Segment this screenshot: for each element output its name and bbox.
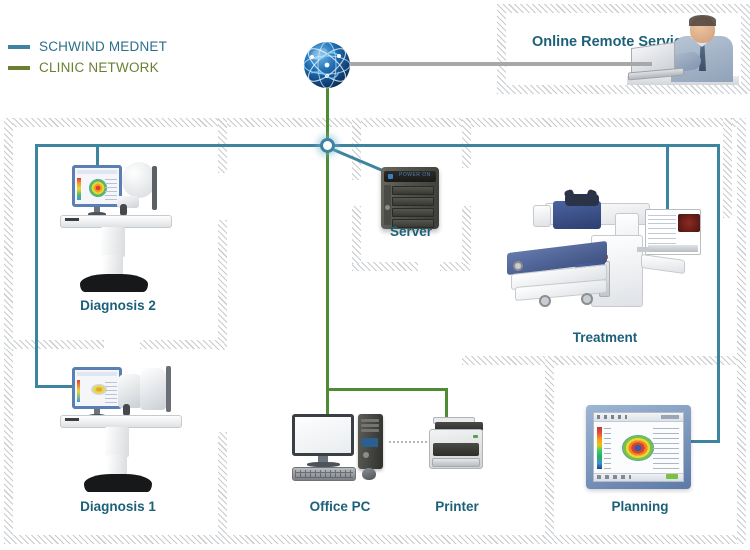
diagnosis2-label: Diagnosis 2 — [68, 298, 168, 313]
legend-item-mednet: SCHWIND MEDNET — [8, 36, 167, 57]
office-pc-tower-display — [362, 438, 378, 447]
diagnosis2-measuring-head — [122, 162, 156, 198]
wall-treatment-bottom — [462, 356, 737, 365]
diagnosis2-base — [80, 274, 148, 292]
office-pc-drive-slot — [361, 429, 379, 432]
diagnosis2-table-controls[interactable] — [65, 218, 79, 221]
diagnosis1-monitor — [72, 367, 122, 409]
wall-divider-a-lower — [218, 432, 227, 544]
link-clinic-to-printer-v — [445, 388, 448, 418]
planning-topography-map-icon — [622, 435, 654, 461]
diagnosis1-table-controls[interactable] — [65, 418, 79, 421]
diagnosis1-optics-left — [118, 374, 142, 408]
treatment-monitor — [645, 209, 701, 255]
wall-divider-d — [545, 356, 554, 544]
diagnosis1-support-arm — [166, 366, 171, 412]
office-pc-mouse[interactable] — [362, 468, 376, 480]
online-remote-services-panel: Online Remote Services — [497, 4, 750, 94]
office-pc-drive-slot — [361, 424, 379, 427]
treatment-eye-image — [678, 214, 700, 232]
planning-color-scale-icon — [597, 427, 602, 469]
server-drive-bay — [392, 186, 434, 195]
link-mednet-right-riser — [717, 144, 720, 442]
wall-bottom — [4, 535, 746, 544]
wall-right — [737, 118, 746, 544]
wall-divider-a-mid — [218, 220, 227, 350]
wall-divider-e — [723, 118, 732, 218]
server-device: POWER ON — [381, 167, 439, 229]
printer-paper-tray — [432, 458, 480, 467]
server-power-status-text: POWER ON — [399, 172, 431, 178]
wall-horizontal-left2 — [140, 340, 224, 349]
link-globe-to-remote — [338, 62, 652, 66]
wall-divider-b-upper — [352, 118, 361, 180]
office-pc-drive-slot — [361, 419, 379, 422]
treatment-caster-wheel — [581, 293, 593, 305]
server-drive-bay — [392, 197, 434, 206]
link-mednet-left-riser — [35, 144, 38, 388]
server-power-button[interactable] — [385, 205, 390, 210]
office-pc-device — [292, 414, 392, 476]
wall-divider-c-mid — [462, 206, 471, 264]
printer-front-panel — [433, 443, 479, 456]
wall-server-bottom — [352, 262, 418, 271]
legend-swatch-mednet-icon — [8, 45, 30, 49]
link-mednet-to-planning — [689, 440, 720, 443]
planning-screen — [593, 412, 684, 482]
printer-status-led-icon — [473, 435, 478, 438]
treatment-caster-wheel — [539, 295, 551, 307]
server-drive-bay — [392, 208, 434, 217]
remote-panel-inner: Online Remote Services — [506, 13, 741, 85]
treatment-arm-joint — [533, 205, 551, 227]
link-clinic-to-officepc — [326, 388, 329, 416]
legend: SCHWIND MEDNET CLINIC NETWORK — [8, 36, 167, 78]
server-status-led-icon — [388, 174, 393, 179]
office-pc-monitor — [292, 414, 354, 456]
link-mednet-trunk — [35, 144, 719, 147]
wall-divider-c-upper — [462, 118, 471, 168]
diagnosis2-column — [101, 227, 125, 257]
diagnosis1-device — [60, 362, 185, 497]
legend-label-mednet: SCHWIND MEDNET — [39, 39, 167, 54]
diagnosis1-base — [84, 474, 152, 492]
diagnosis2-device — [60, 160, 175, 295]
wall-divider-b-lower — [352, 206, 361, 264]
treatment-caster-wheel — [513, 261, 523, 271]
legend-item-clinic: CLINIC NETWORK — [8, 57, 167, 78]
wall-horizontal-left — [4, 340, 104, 349]
server-label: Server — [366, 224, 456, 239]
planning-ok-button[interactable] — [666, 474, 678, 479]
diagnosis2-monitor — [72, 165, 122, 207]
diagnosis1-optics-right — [140, 368, 166, 410]
network-hub-node[interactable] — [320, 138, 335, 153]
planning-label: Planning — [595, 499, 685, 514]
link-clinic-vertical-main — [326, 68, 329, 390]
treatment-label: Treatment — [555, 330, 655, 345]
diagnosis2-head-arm — [152, 166, 157, 210]
printer-label: Printer — [412, 499, 502, 514]
legend-label-clinic: CLINIC NETWORK — [39, 60, 159, 75]
treatment-monitor-arm — [637, 247, 649, 252]
planning-monitor — [586, 405, 691, 489]
diagnosis1-label: Diagnosis 1 — [68, 499, 168, 514]
office-pc-power-button[interactable] — [363, 452, 369, 458]
hair — [689, 15, 716, 26]
legend-swatch-clinic-icon — [8, 66, 30, 70]
wall-top — [4, 118, 746, 127]
office-pc-keyboard[interactable] — [292, 467, 356, 481]
link-clinic-to-printer-h — [326, 388, 448, 391]
printer-device — [427, 417, 485, 472]
keyboard-keys — [295, 470, 353, 478]
internet-globe-icon — [302, 40, 352, 90]
treatment-side-tray — [641, 254, 685, 274]
treatment-device — [505, 195, 700, 320]
network-diagram: SCHWIND MEDNET CLINIC NETWORK Online Rem… — [0, 0, 750, 550]
diagnosis1-column — [105, 427, 129, 457]
office-pc-label: Office PC — [295, 499, 385, 514]
wall-left — [4, 118, 13, 544]
businessman-photo — [627, 13, 739, 85]
